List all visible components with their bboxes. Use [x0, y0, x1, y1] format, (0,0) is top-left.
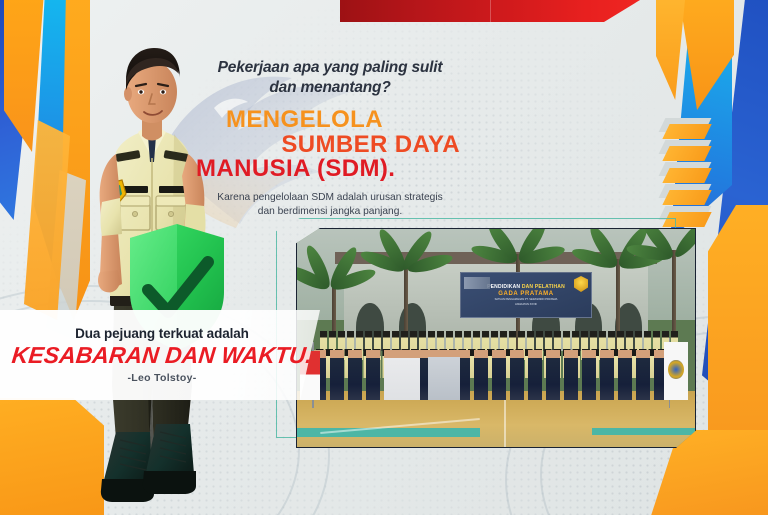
banner-seam	[490, 0, 491, 22]
headline-emphasis: MENGELOLA SUMBER DAYA MANUSIA (SDM).	[196, 108, 464, 181]
left-blue-ribbon	[0, 0, 38, 220]
flag-emblem-icon	[668, 360, 683, 379]
group-photo: PENDIDIKAN DAN PELATIHAN GADA PRATAMA SA…	[296, 228, 696, 448]
left-orange-ribbon-top	[4, 0, 44, 152]
kicker-line-2: dan menantang?	[196, 78, 464, 98]
court-line	[504, 395, 506, 448]
top-red-banner	[340, 0, 640, 22]
banner-subtitle-1: SATUAN PENGAMANAN PT. SERASINDO PRATAMA	[495, 298, 558, 301]
quote-line-2: KESABARAN DAN WAKTU.	[11, 343, 314, 367]
subtext-line-1: Karena pengelolaan SDM adalah urusan str…	[217, 192, 442, 203]
group-photo-container: PENDIDIKAN DAN PELATIHAN GADA PRATAMA SA…	[296, 228, 696, 448]
organization-flag	[664, 342, 688, 399]
emphasis-line-3: MANUSIA (SDM).	[196, 157, 464, 181]
right-orange-band	[708, 205, 768, 495]
court-teal-line	[592, 428, 696, 435]
subtext-line-2: dan berdimensi jangka panjang.	[258, 206, 402, 217]
quote-panel: Dua pejuang terkuat adalah KESABARAN DAN…	[0, 310, 320, 400]
left-orange-block-outer	[0, 398, 38, 515]
right-gray-chevrons	[662, 118, 708, 233]
event-banner: PENDIDIKAN DAN PELATIHAN GADA PRATAMA SA…	[460, 272, 592, 318]
emphasis-line-1: MENGELOLA	[196, 108, 464, 132]
headline-block: Pekerjaan apa yang paling sulit dan mena…	[196, 58, 464, 220]
banner-title-b: DAN PELATIHAN	[522, 284, 565, 290]
quote-attribution: -Leo Tolstoy-	[127, 372, 196, 384]
banner-title-a: PENDIDIKAN	[487, 284, 522, 290]
right-orange-ribbon-2	[656, 0, 686, 100]
right-orange-chevrons	[662, 120, 708, 230]
seated-front-row	[296, 338, 696, 400]
banner-shield-logo-icon	[574, 276, 588, 292]
poster-canvas: Pekerjaan apa yang paling sulit dan mena…	[0, 0, 768, 515]
kicker-line-1: Pekerjaan apa yang paling sulit	[218, 59, 443, 76]
banner-subtitle-2: ANGKATAN XXVIII	[515, 303, 537, 306]
right-orange-ribbon	[678, 0, 734, 110]
right-cyan-ribbon	[670, 0, 732, 240]
banner-title-line-1: PENDIDIKAN DAN PELATIHAN	[487, 284, 565, 290]
headline-subtext: Karena pengelolaan SDM adalah urusan str…	[196, 191, 464, 221]
banner-left-logo-icon	[464, 277, 490, 289]
emphasis-line-2: SUMBER DAYA	[196, 133, 464, 157]
headline-kicker: Pekerjaan apa yang paling sulit dan mena…	[196, 58, 464, 98]
right-blue-ribbon	[702, 0, 768, 460]
quote-line-1: Dua pejuang terkuat adalah	[75, 326, 249, 341]
banner-title-line-2: GADA PRATAMA	[498, 291, 553, 297]
